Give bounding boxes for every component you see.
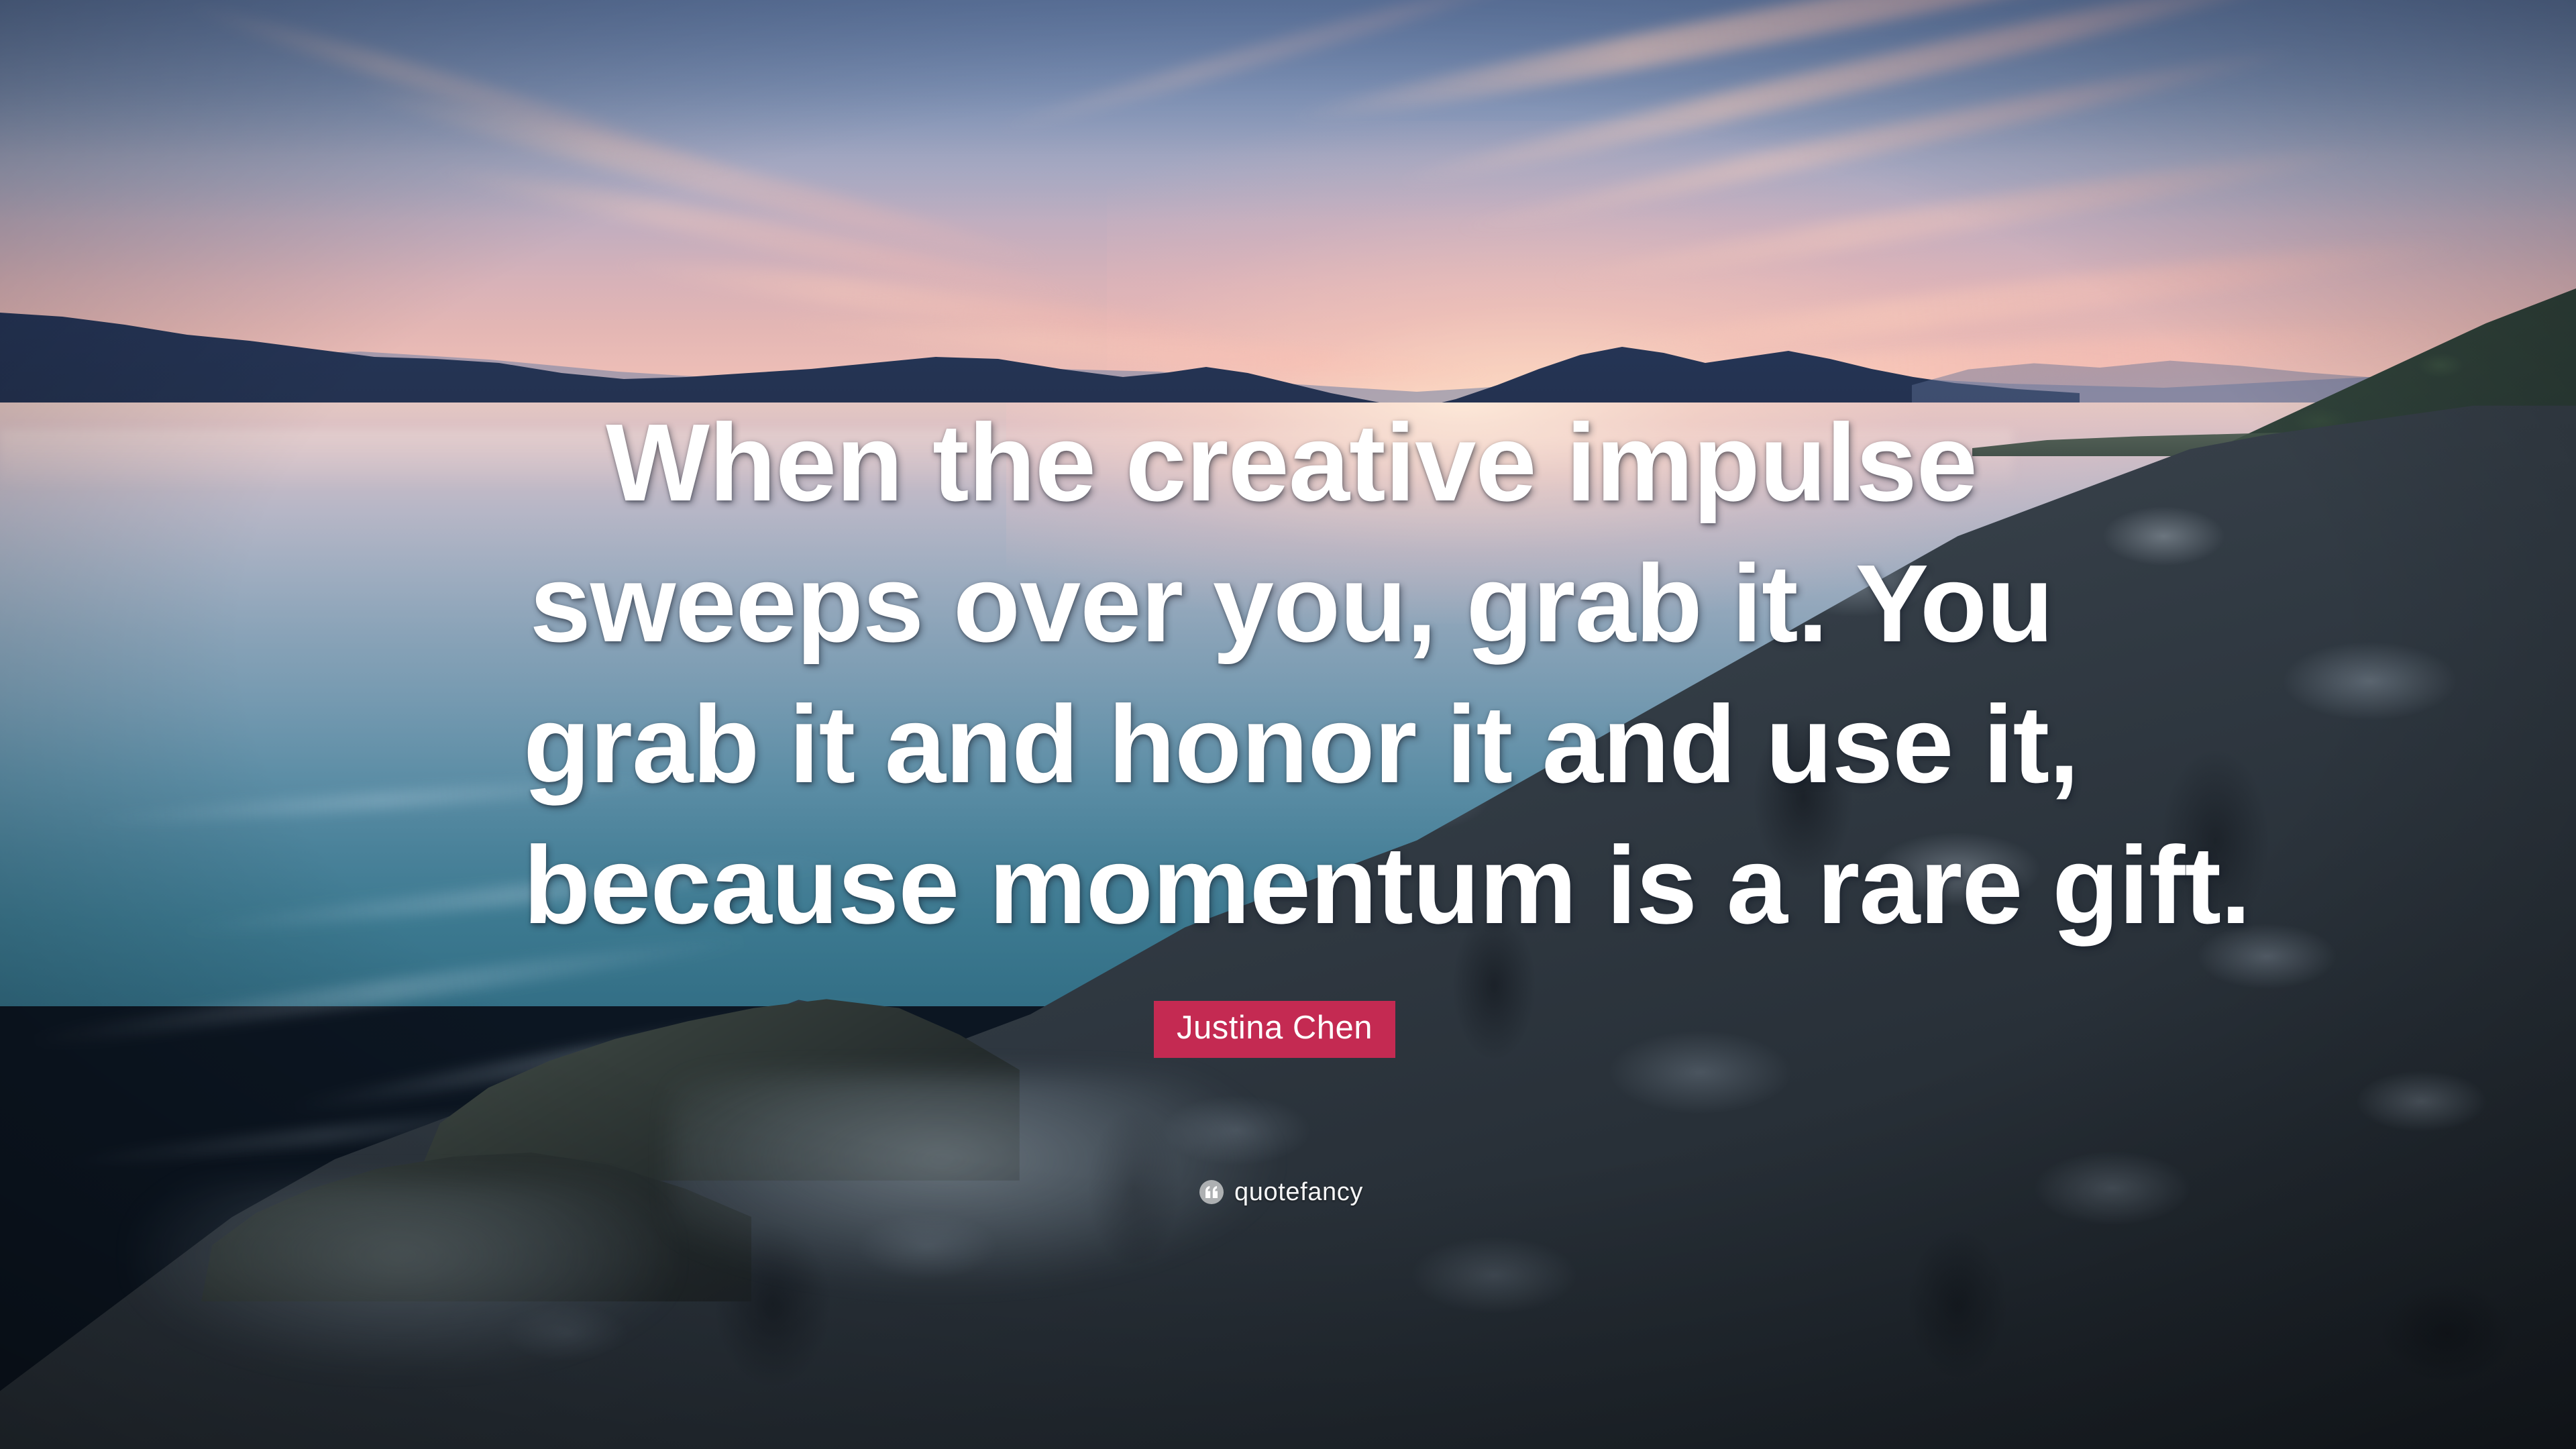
- quote-poster: When the creative impulse sweeps over yo…: [0, 0, 2576, 1449]
- quote-line-3: grab it and honor it and use it,: [523, 674, 2059, 815]
- quote-line-2: sweeps over you, grab it. You: [523, 533, 2059, 674]
- quote-line-1: When the creative impulse: [523, 392, 2059, 533]
- quote-text: When the creative impulse sweeps over yo…: [523, 392, 2059, 956]
- quotefancy-watermark[interactable]: quotefancy: [1199, 1179, 1363, 1205]
- quote-mark-icon: [1199, 1180, 1224, 1204]
- author-name-badge[interactable]: Justina Chen: [1154, 1001, 1395, 1058]
- quote-line-4: because momentum is a rare gift.: [523, 815, 2059, 956]
- overlay-content: When the creative impulse sweeps over yo…: [0, 0, 2576, 1449]
- quotefancy-brand-label: quotefancy: [1234, 1179, 1363, 1205]
